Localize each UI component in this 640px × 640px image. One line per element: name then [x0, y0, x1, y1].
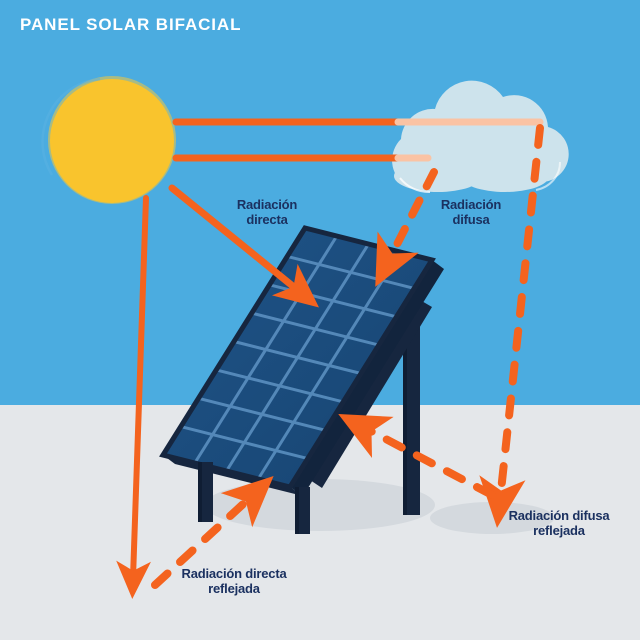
label-radiacion-directa-reflejada-line1: Radiación directa: [152, 567, 316, 582]
label-radiacion-difusa-reflejada-line1: Radiación difusa: [479, 509, 639, 524]
label-radiacion-directa-line1: Radiación: [212, 198, 322, 213]
label-radiacion-difusa-line1: Radiación: [415, 198, 527, 213]
label-radiacion-directa: Radiación directa: [212, 198, 322, 227]
page-title: PANEL SOLAR BIFACIAL: [20, 15, 241, 35]
label-radiacion-difusa-reflejada-line2: reflejada: [479, 524, 639, 539]
label-radiacion-difusa-line2: difusa: [415, 213, 527, 228]
solar-panel-diagram: [0, 0, 640, 640]
infographic-canvas: PANEL SOLAR BIFACIAL Radiación directa R…: [0, 0, 640, 640]
label-radiacion-directa-reflejada: Radiación directa reflejada: [152, 567, 316, 596]
panel-front-leg-2: [295, 487, 310, 534]
label-radiacion-directa-reflejada-line2: reflejada: [152, 582, 316, 597]
panel-front-leg: [198, 462, 213, 522]
label-radiacion-difusa: Radiación difusa: [415, 198, 527, 227]
label-radiacion-directa-line2: directa: [212, 213, 322, 228]
label-radiacion-difusa-reflejada: Radiación difusa reflejada: [479, 509, 639, 538]
